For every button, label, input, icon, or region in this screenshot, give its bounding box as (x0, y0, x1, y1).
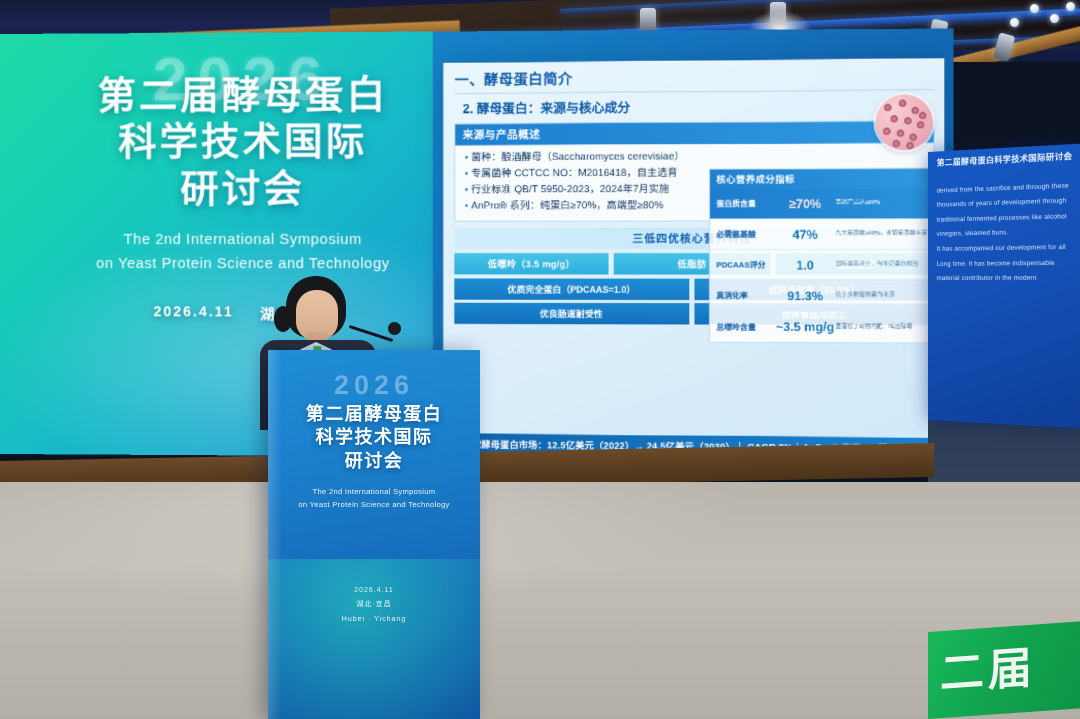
feature-box-column-left: 优质完全蛋白（PDCAAS=1.0） 优良肠道耐受性 (455, 279, 690, 325)
podium-title: 第二届酵母蛋白 科学技术国际 研讨会 (268, 403, 480, 473)
podium-subtitle-line-1: The 2nd International Symposium (268, 485, 480, 498)
table-cell-value: 91.3% (775, 288, 836, 302)
podium-graphic: 2026 第二届酵母蛋白 科学技术国际 研讨会 The 2nd Internat… (268, 350, 480, 628)
podium-meta: 2026.4.11 湖北·宜昌 Hubei · Yichang (268, 584, 480, 628)
table-row: 真消化率 91.3% 优于多数植物蛋白来源 (710, 281, 933, 312)
table-cell-key: 必需氨基酸 (710, 229, 775, 240)
list-item: 专属菌种 CCTCC NO：M2016418，自主选育 (465, 164, 928, 182)
banner-title: 第二届酵母蛋白 科学技术国际 研讨会 (46, 42, 441, 213)
pendant-light-icon (1066, 2, 1075, 11)
table-cell-desc: 显著低于动物内脏、啤酒酵母 (836, 323, 933, 331)
table-cell-value: 47% (775, 227, 836, 241)
banner-title-line-3: 研讨会 (46, 166, 441, 213)
side-screen-header: 第二届酵母蛋白科学技术国际研讨会 (937, 152, 1074, 168)
banner-subtitle: The 2nd International Symposium on Yeast… (46, 229, 441, 277)
caption-line: It has accompanied our development for a… (937, 240, 1074, 257)
slide-overview-card: 来源与产品概述 菌种：酿酒酵母（Saccharomyces cerevisiae… (455, 120, 935, 222)
list-item: 菌种：酿酒酵母（Saccharomyces cerevisiae） (465, 148, 928, 166)
list-item: AnPro® 系列：纯蛋白≥70%，高端型≥80% (465, 197, 928, 214)
podium-subtitle-line-2: on Yeast Protein Science and Technology (268, 498, 480, 511)
caption-line: Long time. it has become indispensable (937, 256, 1074, 272)
table-cell-desc: 九大氨基酸≥40%，支链氨基酸丰富 (836, 230, 933, 237)
table-cell-key: PDCAAS评分 (710, 259, 775, 270)
podium-title-line-3: 研讨会 (268, 450, 480, 473)
banner-date: 2026.4.11 (153, 303, 233, 323)
conference-stage-photo: 2026 第二届酵母蛋白 科学技术国际 研讨会 The 2nd Internat… (0, 0, 1080, 719)
slide-bullet-list: 菌种：酿酒酵母（Saccharomyces cerevisiae） 专属菌种 C… (456, 143, 934, 216)
side-caption-screen: 第二届酵母蛋白科学技术国际研讨会 derived from the sacrif… (928, 143, 1080, 428)
venue-floor (0, 482, 1080, 719)
banner-subtitle-line-1: The 2nd International Symposium (46, 229, 441, 253)
table-cell-key: 真消化率 (710, 290, 775, 301)
caption-line: material contributor in the modern (937, 271, 1074, 286)
table-cell-desc: 优于多数植物蛋白来源 (836, 292, 933, 299)
podium-title-line-2: 科学技术国际 (268, 426, 480, 449)
table-cell-value: 1.0 (775, 258, 836, 272)
slide-card-header: 来源与产品概述 (456, 121, 934, 145)
podium-location-pinyin: Hubei · Yichang (268, 613, 480, 628)
table-cell-desc: 国际最高评分，与牛奶蛋白相当 (836, 261, 933, 268)
slide-sub-heading: 2. 酵母蛋白：来源与核心成分 (463, 94, 944, 117)
table-row: 总嘌呤含量 ~3.5 mg/g 显著低于动物内脏、啤酒酵母 (710, 311, 933, 343)
presentation-slide: 一、酵母蛋白简介 2. 酵母蛋白：来源与核心成分 来源与产品概述 菌种：酿酒酵母… (443, 58, 944, 459)
podium-year: 2026 (268, 372, 480, 399)
table-row: PDCAAS评分 1.0 国际最高评分，与牛奶蛋白相当 (710, 250, 933, 281)
spotlight-icon (770, 2, 786, 28)
pendant-light-icon (1030, 4, 1039, 13)
banner-subtitle-line-2: on Yeast Protein Science and Technology (46, 253, 441, 277)
green-sign-text: 二届 (940, 646, 1036, 697)
pendant-light-icon (1050, 14, 1059, 23)
feature-box: 优质完全蛋白（PDCAAS=1.0） (455, 279, 690, 301)
banner-title-line-2: 科学技术国际 (46, 119, 441, 167)
green-floor-sign: 二届 (928, 621, 1080, 719)
podium-location: 湖北·宜昌 (268, 598, 480, 613)
feature-box: 优良肠道耐受性 (455, 303, 690, 325)
slide-section-heading: 一、酵母蛋白简介 (455, 65, 944, 90)
slide-divider (455, 89, 935, 94)
podium: 2026 第二届酵母蛋白 科学技术国际 研讨会 The 2nd Internat… (268, 350, 480, 719)
podium-date: 2026.4.11 (268, 584, 480, 599)
podium-title-line-1: 第二届酵母蛋白 (268, 403, 480, 426)
list-item: 行业标准 QB/T 5950-2023，2024年7月实施 (465, 181, 928, 199)
microphone-head-icon (388, 322, 401, 335)
table-cell-value: ~3.5 mg/g (775, 320, 836, 335)
table-row: 必需氨基酸 47% 九大氨基酸≥40%，支链氨基酸丰富 (710, 219, 933, 250)
pendant-light-icon (1010, 18, 1019, 27)
table-cell-key: 总嘌呤含量 (710, 321, 775, 332)
banner-title-line-1: 第二届酵母蛋白 (46, 72, 441, 120)
feature-tag: 低嘌呤（3.5 mg/g） (455, 254, 609, 275)
podium-subtitle: The 2nd International Symposium on Yeast… (268, 485, 480, 512)
side-screen-caption-text: derived from the sacrifice and through t… (937, 179, 1074, 287)
